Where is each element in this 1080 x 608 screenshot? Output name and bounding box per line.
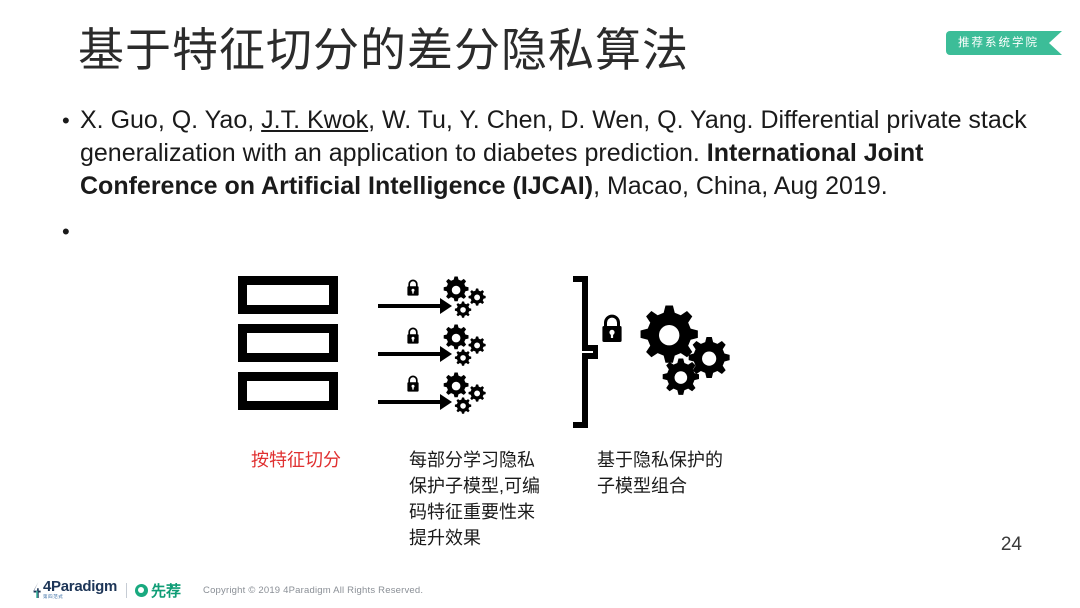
arrow-shaft — [378, 352, 442, 356]
citation-text: X. Guo, Q. Yao, J.T. Kwok, W. Tu, Y. Che… — [80, 104, 1052, 203]
gears-icon-1 — [438, 274, 492, 322]
gears-icon — [438, 322, 492, 370]
four-paradigm-mark-icon — [33, 581, 42, 599]
feature-block-stack — [238, 276, 338, 420]
gears-icon — [438, 370, 492, 418]
gears-icon-2 — [438, 322, 492, 370]
badge-label: 推荐系统学院 — [946, 31, 1049, 55]
status-badge: 推荐系统学院 — [946, 31, 1062, 55]
lock-icon — [406, 375, 420, 393]
list-item: • X. Guo, Q. Yao, J.T. Kwok, W. Tu, Y. C… — [62, 104, 1052, 203]
bullet-dot-icon: • — [62, 225, 80, 239]
citation-seg-kwok: J.T. Kwok — [261, 106, 368, 134]
page-number: 24 — [1001, 534, 1022, 556]
feature-block-2 — [238, 324, 338, 362]
caption-split-by-feature: 按特征切分 — [251, 447, 341, 473]
citation-seg-location: , Macao, China, Aug 2019. — [593, 172, 888, 200]
arrow-shaft — [378, 304, 442, 308]
gear-cluster-column — [438, 274, 492, 418]
logo-divider — [126, 583, 127, 598]
copyright-text: Copyright © 2019 4Paradigm All Rights Re… — [203, 585, 423, 596]
logo-xianjian-text: 先荐 — [151, 580, 181, 601]
gears-icon-3 — [438, 370, 492, 418]
right-curly-bracket-icon — [572, 276, 598, 428]
lock-icon — [600, 314, 624, 344]
lock-icon — [406, 279, 420, 297]
bullet-list: • X. Guo, Q. Yao, J.T. Kwok, W. Tu, Y. C… — [62, 104, 1052, 247]
slide-footer: 4Paradigm 第四范式 先荐 Copyright © 2019 4Para… — [0, 572, 1080, 608]
logo-4paradigm-text: 4Paradigm — [43, 580, 117, 594]
caption-private-submodel-ensemble: 基于隐私保护的子模型组合 — [597, 447, 729, 499]
pipeline-diagram — [0, 262, 1080, 442]
lock-icon — [406, 327, 420, 345]
badge-notch-icon — [1049, 31, 1062, 55]
logo-4paradigm: 4Paradigm 第四范式 先荐 — [33, 580, 181, 601]
caption-per-part-private-submodel: 每部分学习隐私保护子模型,可编码特征重要性来提升效果 — [409, 447, 541, 551]
list-item-empty: • — [62, 225, 1052, 247]
slide-canvas: 基于特征切分的差分隐私算法 推荐系统学院 • X. Guo, Q. Yao, J… — [0, 0, 1080, 608]
arrow-shaft — [378, 400, 442, 404]
xianjian-mark-icon — [135, 584, 148, 597]
bullet-dot-icon: • — [62, 104, 80, 137]
feature-block-3 — [238, 372, 338, 410]
logo-xianjian: 先荐 — [135, 580, 181, 601]
feature-block-1 — [238, 276, 338, 314]
page-title: 基于特征切分的差分隐私算法 — [78, 24, 689, 77]
gears-icon — [438, 274, 492, 322]
gears-icon-large — [640, 304, 736, 396]
diagram-captions: 按特征切分 每部分学习隐私保护子模型,可编码特征重要性来提升效果 基于隐私保护的… — [0, 445, 1080, 575]
citation-seg-authors-1: X. Guo, Q. Yao, — [80, 106, 261, 134]
